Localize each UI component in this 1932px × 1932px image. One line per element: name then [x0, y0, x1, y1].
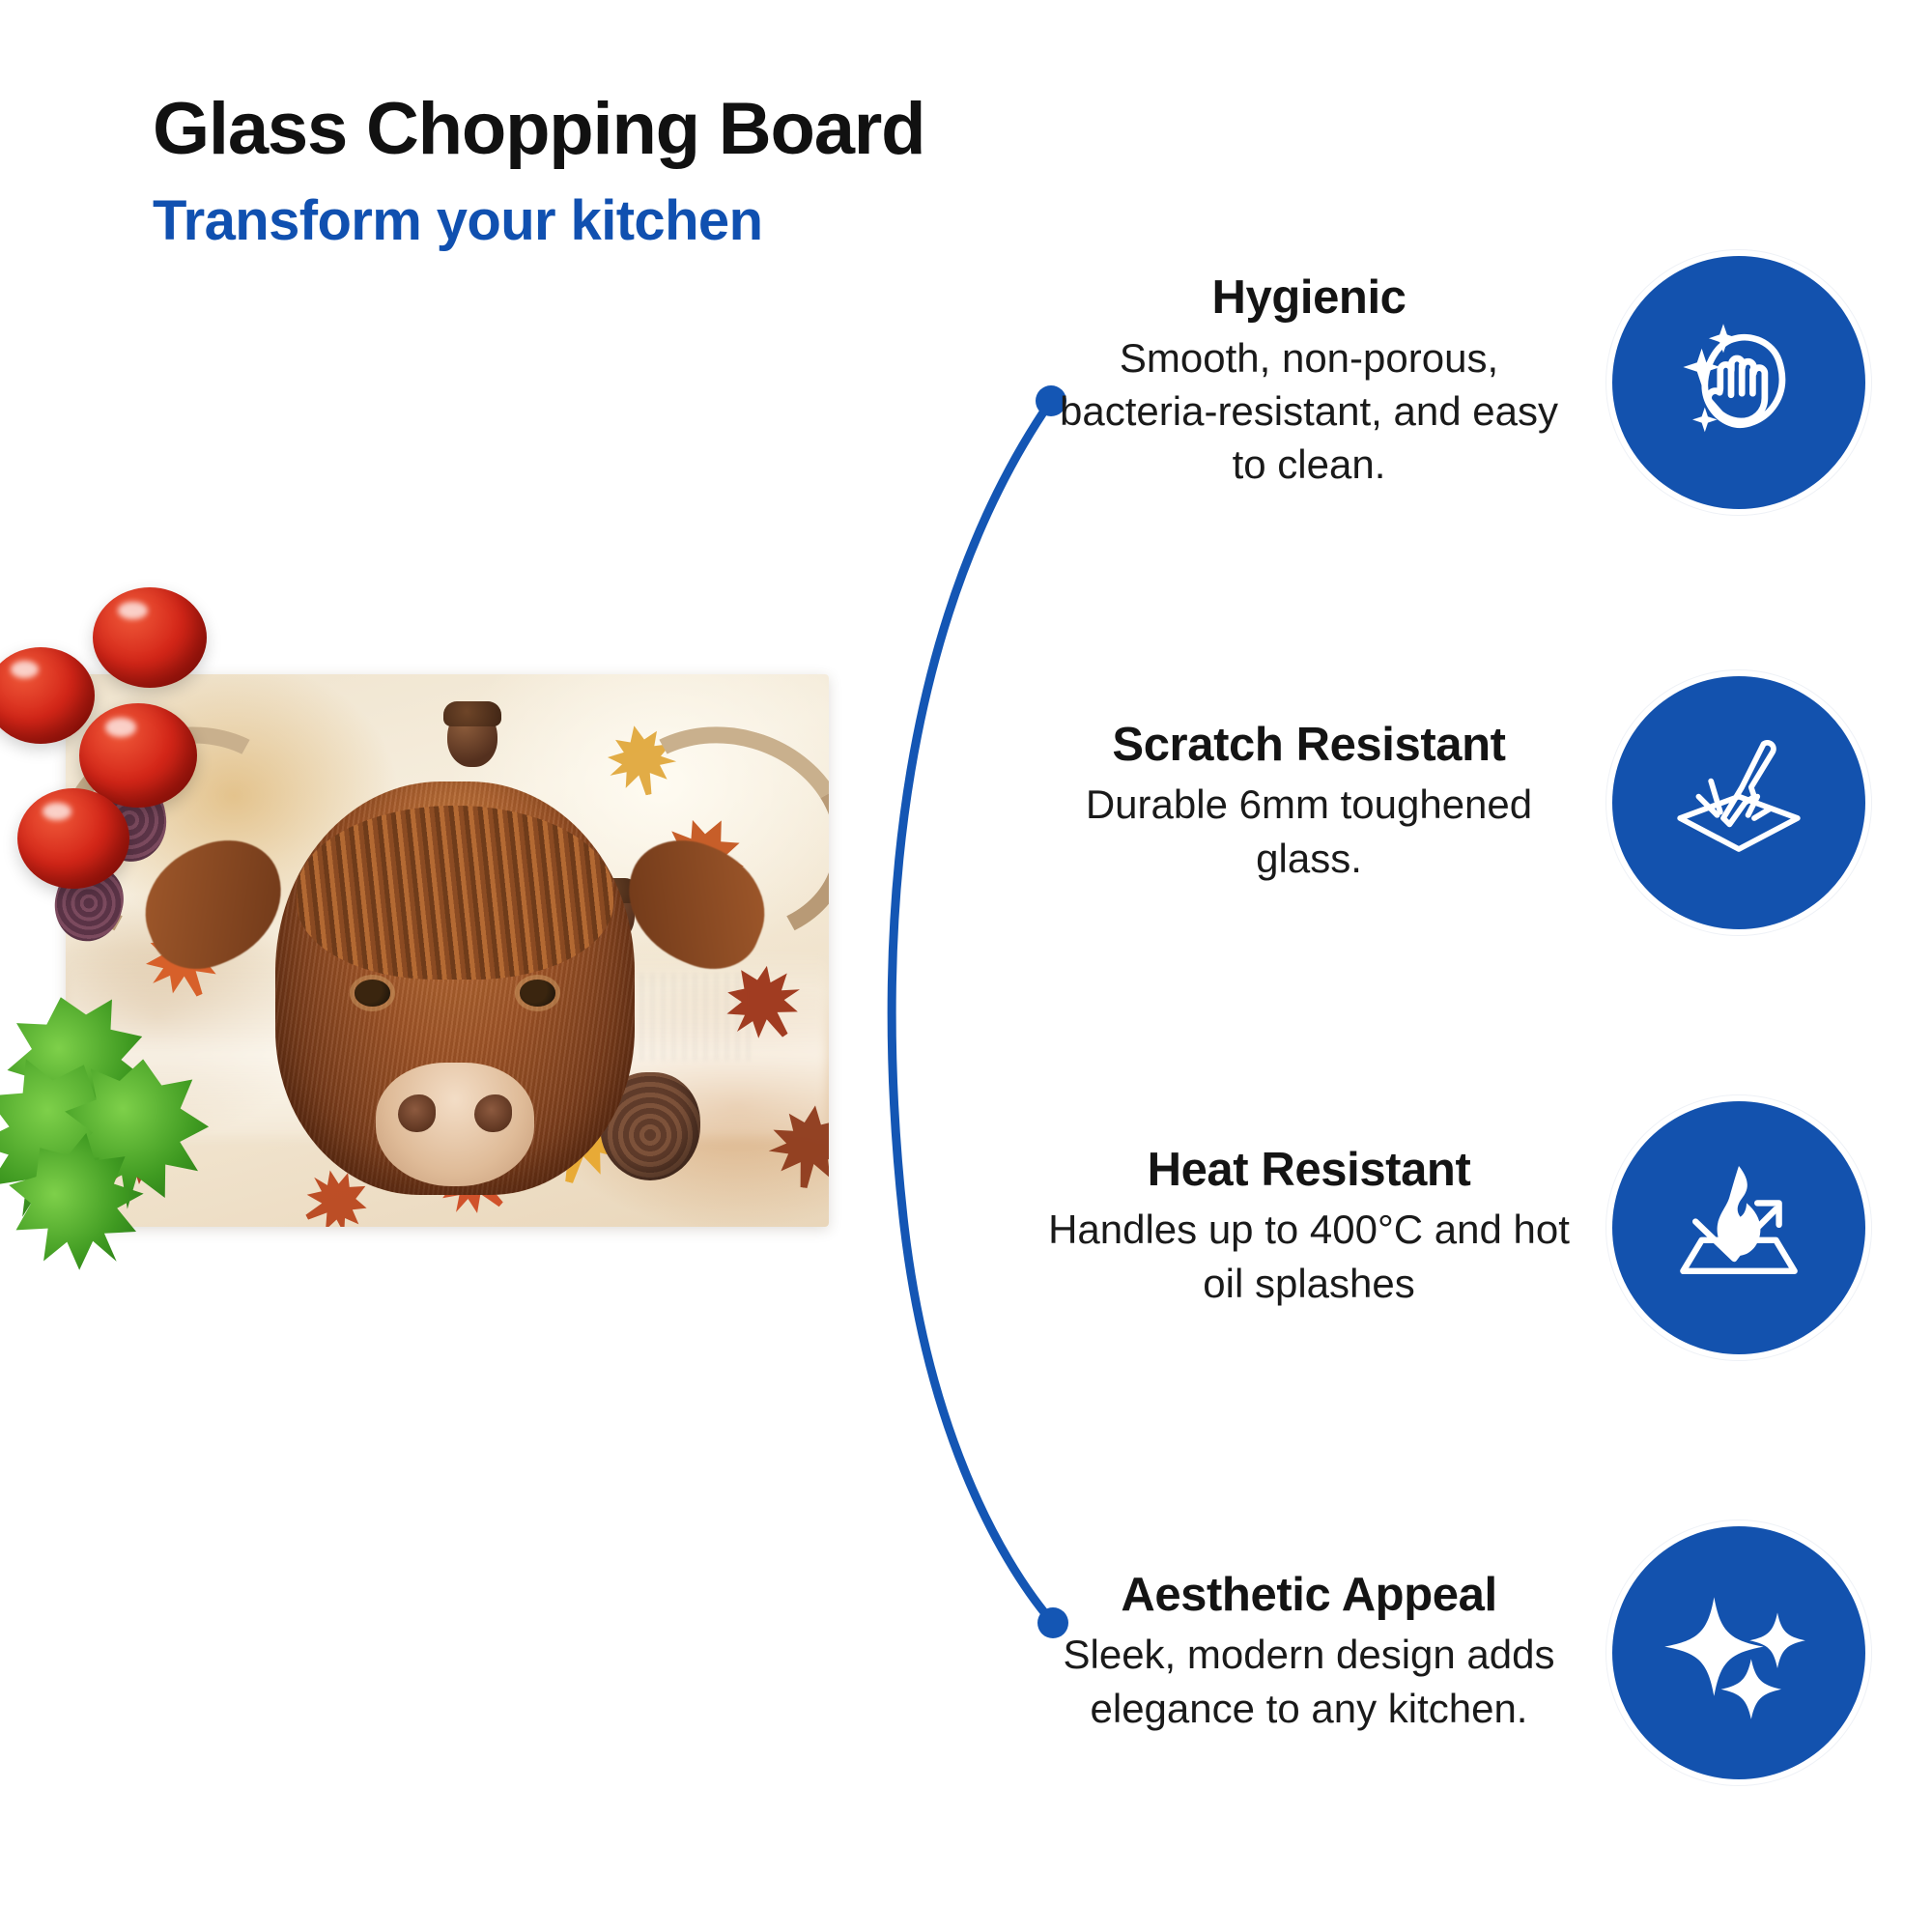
cow-fringe	[297, 806, 613, 980]
header: Glass Chopping Board Transform your kitc…	[153, 93, 1119, 249]
connector-path	[892, 401, 1053, 1623]
flame-deflect-surface-icon	[1612, 1101, 1865, 1354]
feature-aesthetic-appeal: Aesthetic Appeal Sleek, modern design ad…	[1038, 1526, 1865, 1779]
cherry-tomato	[93, 587, 207, 688]
feature-title: Scratch Resistant	[1038, 721, 1579, 770]
feature-description: Handles up to 400°C and hot oil splashes	[1038, 1203, 1579, 1310]
feature-title: Aesthetic Appeal	[1038, 1571, 1579, 1620]
feature-hygienic: Hygienic Smooth, non-porous, bacteria-re…	[1038, 256, 1865, 509]
feature-description: Smooth, non-porous, bacteria-resistant, …	[1038, 331, 1579, 492]
feature-title: Heat Resistant	[1038, 1146, 1579, 1195]
feature-scratch-resistant: Scratch Resistant Durable 6mm toughened …	[1038, 676, 1865, 929]
cow-eye-right	[520, 980, 555, 1006]
feature-heat-resistant: Heat Resistant Handles up to 400°C and h…	[1038, 1101, 1865, 1354]
feature-text: Aesthetic Appeal Sleek, modern design ad…	[1038, 1571, 1579, 1735]
highland-cow-artwork	[218, 696, 692, 1227]
cow-head	[275, 781, 635, 1195]
cherry-tomato	[17, 788, 129, 889]
connector-arc	[850, 367, 1159, 1681]
feature-description: Sleek, modern design adds elegance to an…	[1038, 1628, 1579, 1735]
sparkles-icon	[1612, 1526, 1865, 1779]
feature-text: Hygienic Smooth, non-porous, bacteria-re…	[1038, 273, 1579, 492]
knife-scratch-surface-icon	[1612, 676, 1865, 929]
cow-nostril-left	[398, 1094, 436, 1132]
sparkle-small	[1721, 1659, 1781, 1719]
sparkle-medium	[1749, 1612, 1805, 1668]
cow-eye-left	[355, 980, 390, 1006]
feature-text: Scratch Resistant Durable 6mm toughened …	[1038, 721, 1579, 885]
page-subtitle: Transform your kitchen	[153, 193, 1119, 249]
feature-description: Durable 6mm toughened glass.	[1038, 778, 1579, 885]
feature-text: Heat Resistant Handles up to 400°C and h…	[1038, 1146, 1579, 1310]
cow-nostril-right	[474, 1094, 512, 1132]
cow-muzzle	[376, 1063, 534, 1186]
feature-title: Hygienic	[1038, 273, 1579, 323]
cleaning-hand-sparkle-icon	[1612, 256, 1865, 509]
product-image	[0, 599, 869, 1314]
page-title: Glass Chopping Board	[153, 93, 1119, 166]
